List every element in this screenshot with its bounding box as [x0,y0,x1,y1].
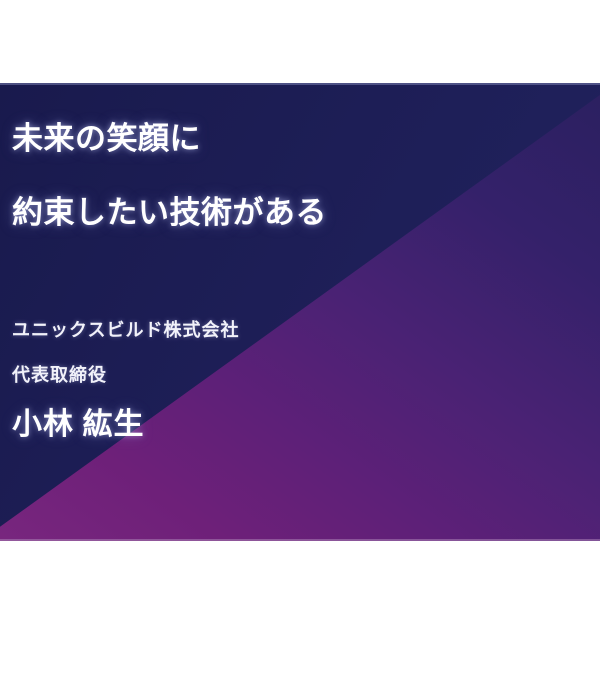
headline-line-2: 約束したい技術がある [12,197,327,228]
banner-bottom-edge-line [0,539,600,541]
company-name: ユニックスビルド株式会社 [12,316,239,342]
person-name: 小林 紘生 [12,399,145,443]
role-title: 代表取締役 [12,361,107,387]
banner-copy-block: 未来の笑顔に 約束したい技術がある ユニックスビルド株式会社 代表取締役 小林 … [0,83,600,541]
hero-banner: 未来の笑顔に 約束したい技術がある ユニックスビルド株式会社 代表取締役 小林 … [0,83,600,541]
page-root: 未来の笑顔に 約束したい技術がある ユニックスビルド株式会社 代表取締役 小林 … [0,0,600,693]
headline-line-1: 未来の笑顔に [12,123,201,154]
banner-top-edge-line [0,83,600,85]
